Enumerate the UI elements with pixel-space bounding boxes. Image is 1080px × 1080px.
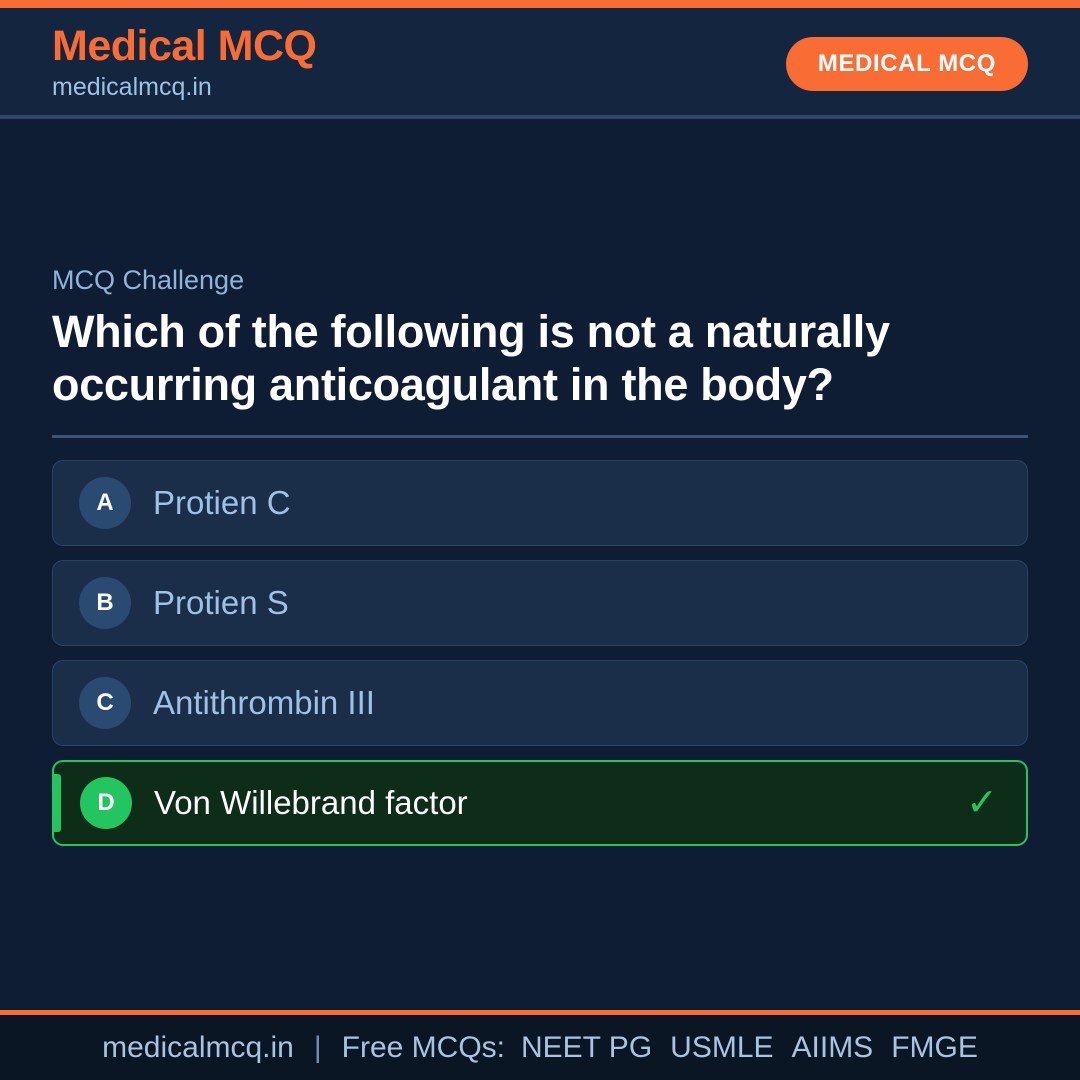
correct-check-icon-d: ✓ [966,784,998,822]
brand-title: Medical MCQ [52,24,317,69]
option-row-a[interactable]: A Protien C ✓ [52,460,1028,546]
option-text-b: Protien S [153,583,967,623]
main-content: MCQ Challenge Which of the following is … [0,119,1080,1010]
top-accent-bar [0,0,1080,8]
question-text: Which of the following is not a naturall… [52,306,1028,410]
page-header: Medical MCQ medicalmcq.in MEDICAL MCQ [0,8,1080,119]
footer-exam-fmge: FMGE [891,1031,978,1065]
footer-exam-list: NEET PG USMLE AIIMS FMGE [521,1031,978,1065]
footer-exam-neet-pg: NEET PG [521,1031,652,1065]
options-list: A Protien C ✓ B Protien S ✓ C Antithromb… [52,460,1028,846]
footer-exam-aiims: AIIMS [792,1031,874,1065]
option-text-c: Antithrombin III [153,683,967,723]
page-footer: medicalmcq.in | Free MCQs: NEET PG USMLE… [0,1010,1080,1080]
footer-label: Free MCQs: [342,1031,505,1065]
header-badge: MEDICAL MCQ [786,37,1028,91]
option-row-b[interactable]: B Protien S ✓ [52,560,1028,646]
option-text-a: Protien C [153,483,967,523]
brand-subtitle: medicalmcq.in [52,71,317,104]
option-letter-b: B [79,577,131,629]
option-text-d: Von Willebrand factor [154,783,966,823]
option-row-c[interactable]: C Antithrombin III ✓ [52,660,1028,746]
option-letter-a: A [79,477,131,529]
section-eyebrow: MCQ Challenge [52,264,1028,296]
option-letter-c: C [79,677,131,729]
footer-content: medicalmcq.in | Free MCQs: NEET PG USMLE… [102,1031,978,1065]
brand-block: Medical MCQ medicalmcq.in [52,24,317,103]
top-spacer [52,119,1028,264]
footer-site: medicalmcq.in [102,1031,294,1065]
footer-separator: | [310,1031,326,1065]
question-divider [52,435,1028,438]
option-letter-d: D [80,777,132,829]
footer-exam-usmle: USMLE [670,1031,773,1065]
option-row-d[interactable]: D Von Willebrand factor ✓ [52,760,1028,846]
